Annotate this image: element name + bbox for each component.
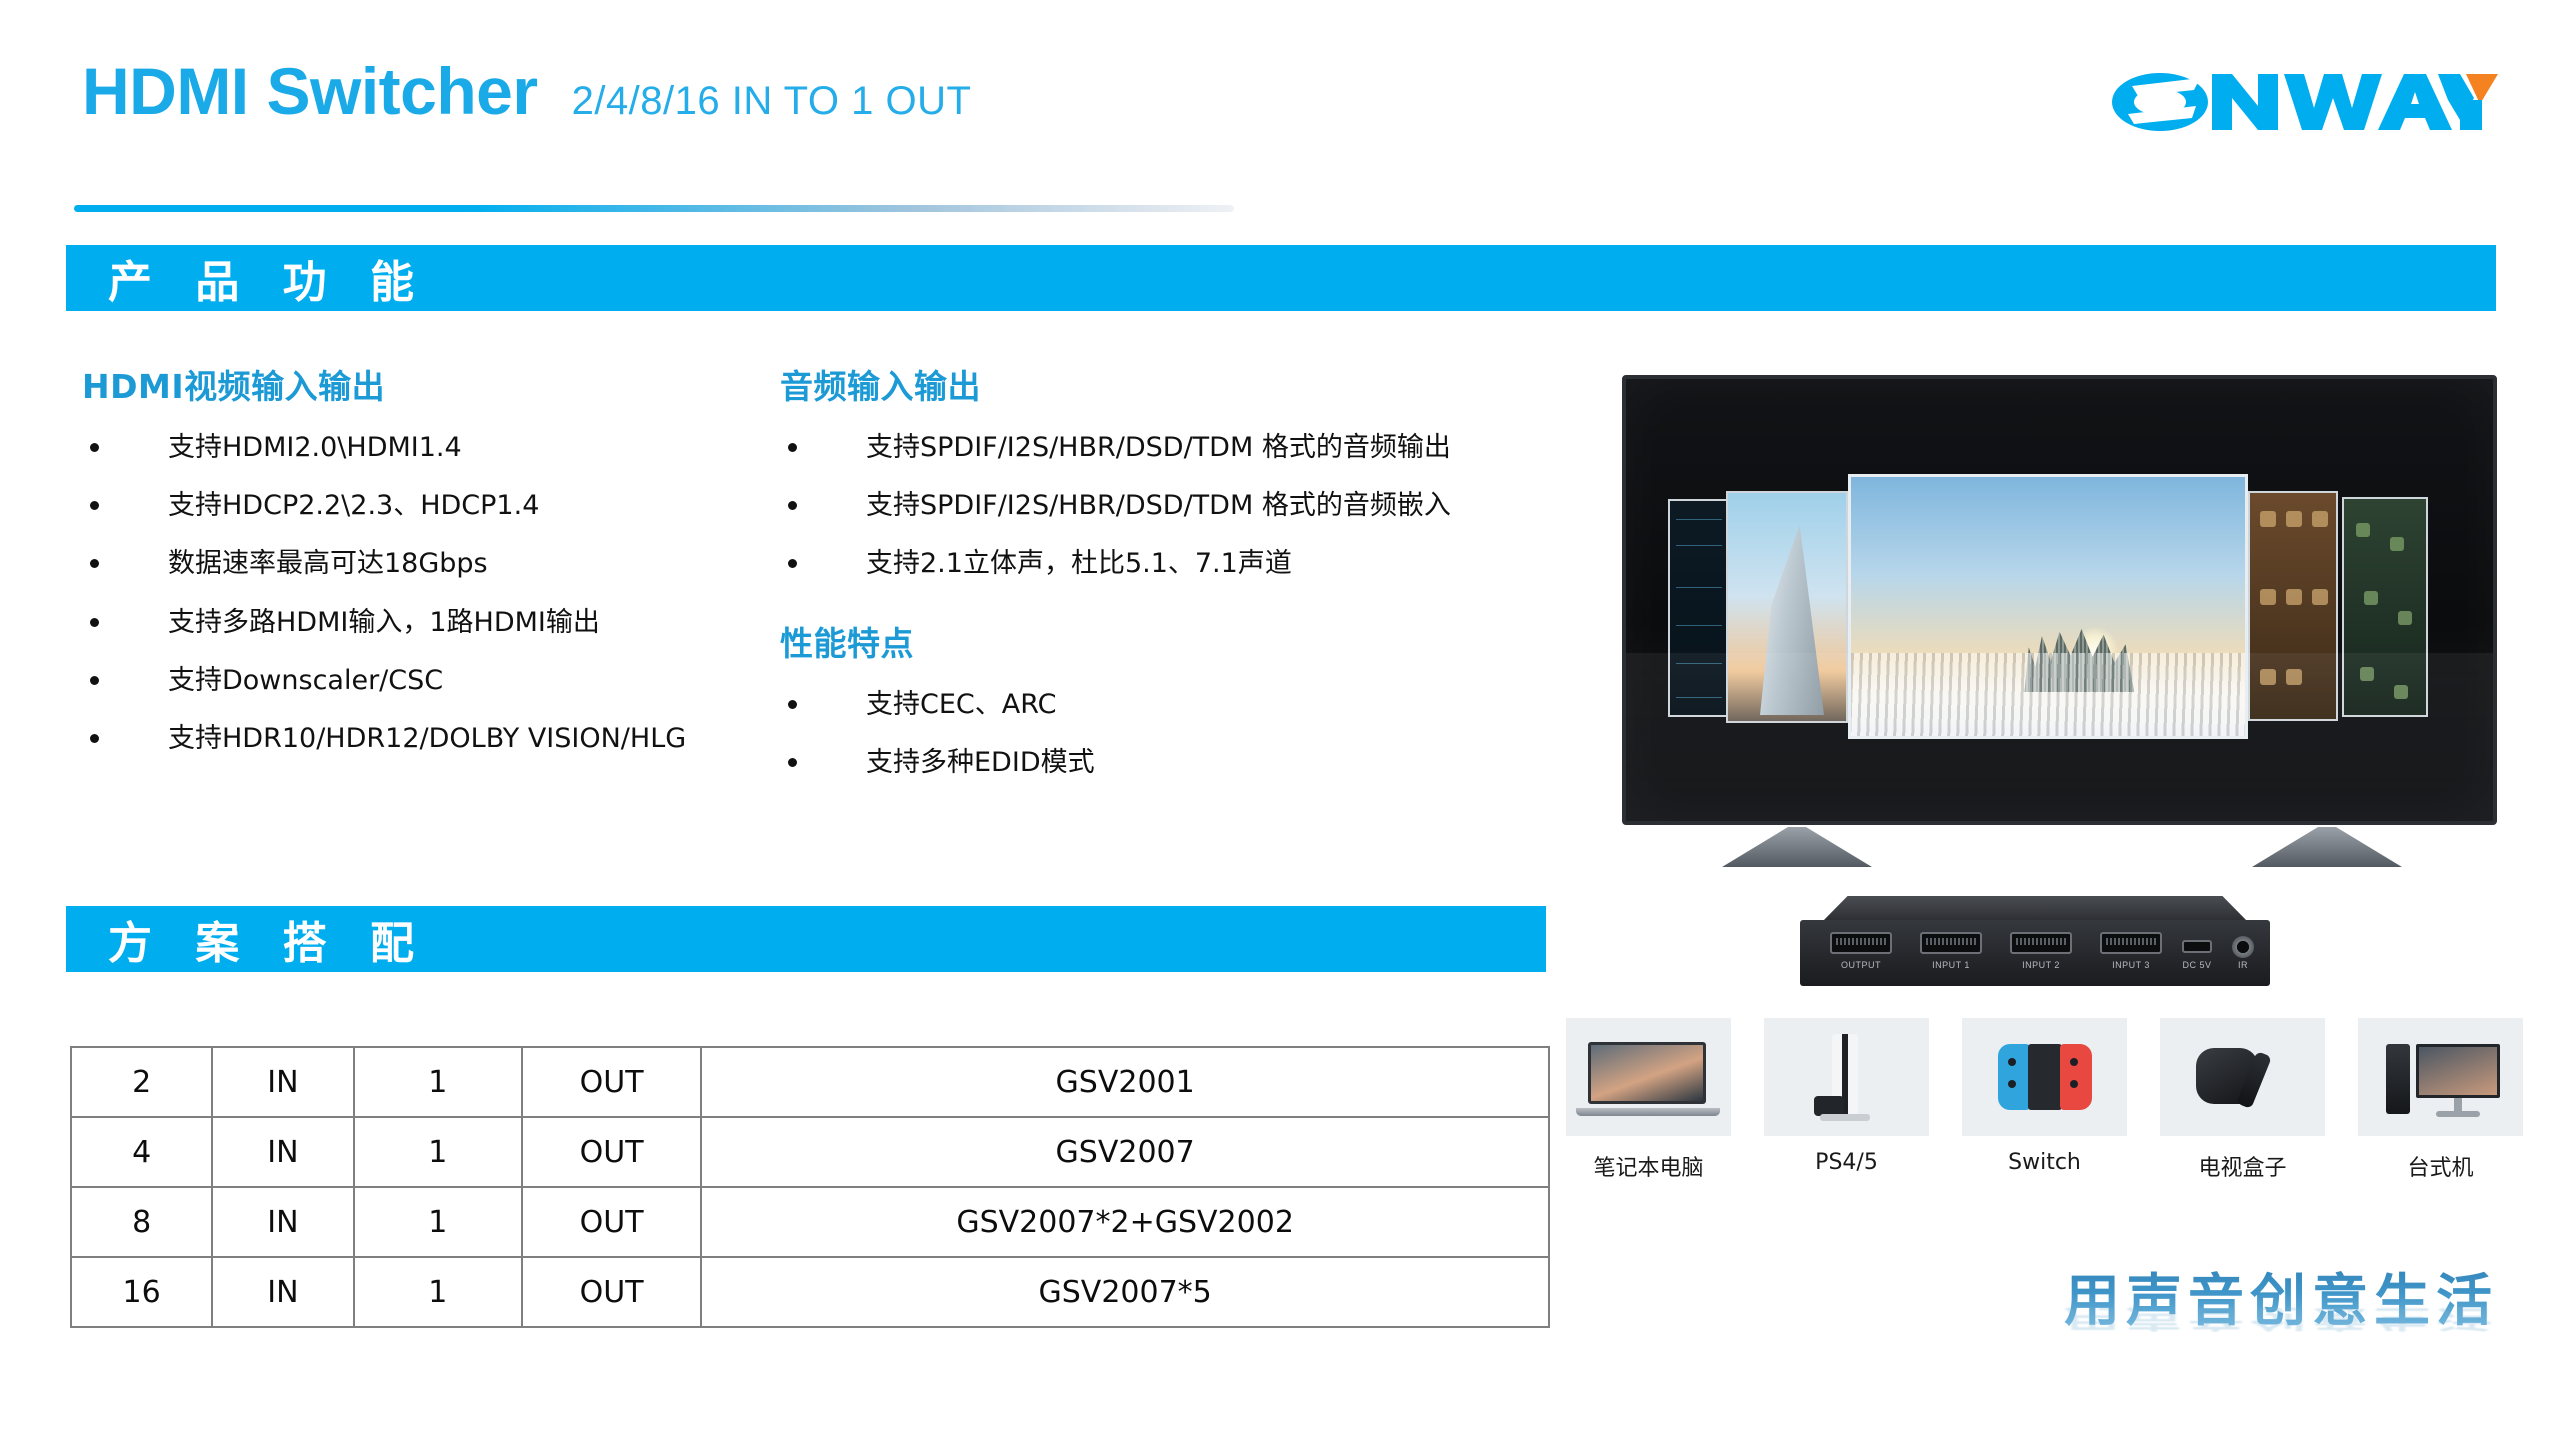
- table-row: 16 IN 1 OUT GSV2007*5: [71, 1257, 1549, 1327]
- list-item: 支持HDR10/HDR12/DOLBY VISION/HLG: [82, 721, 762, 757]
- table-row: 8 IN 1 OUT GSV2007*2+GSV2002: [71, 1187, 1549, 1257]
- cell-model: GSV2001: [701, 1047, 1549, 1117]
- laptop-icon: [1566, 1018, 1731, 1136]
- list-item-text: 支持HDCP2.2\2.3、HDCP1.4: [168, 488, 762, 524]
- tv-box-icon: [2160, 1018, 2325, 1136]
- slide-root: HDMI Switcher 2/4/8/16 IN TO 1 OUT: [0, 0, 2560, 1440]
- page-subtitle: 2/4/8/16 IN TO 1 OUT: [572, 81, 972, 121]
- cell-out-label: OUT: [522, 1117, 701, 1187]
- port-label-input-1: INPUT 1: [1911, 960, 1991, 970]
- cell-outputs: 1: [354, 1257, 522, 1327]
- compatible-devices-row: 笔记本电脑 PS4/5 Switch 电视盒子: [1566, 1018, 2526, 1198]
- bullet-dot-icon: [90, 676, 99, 685]
- port-label-ir: IR: [2203, 960, 2283, 970]
- tv-product-image: [1612, 375, 2512, 875]
- brand-slogan-block: 用声音创意生活 用声音创意生活: [2064, 1256, 2498, 1420]
- switcher-front-panel: OUTPUT INPUT 1 INPUT 2 INPUT 3 DC 5V IR: [1800, 920, 2270, 986]
- header-divider: [74, 205, 1234, 212]
- cell-model: GSV2007: [701, 1117, 1549, 1187]
- title-row: HDMI Switcher 2/4/8/16 IN TO 1 OUT: [82, 58, 971, 124]
- switcher-top-surface: [1822, 896, 2248, 922]
- ir-jack-icon: [2232, 936, 2254, 958]
- device-item-switch: Switch: [1962, 1018, 2127, 1175]
- hdmi-switcher-device-image: OUTPUT INPUT 1 INPUT 2 INPUT 3 DC 5V IR: [1800, 896, 2270, 996]
- feature-list-performance: 支持CEC、ARC 支持多种EDID模式: [780, 687, 1570, 781]
- device-label: Switch: [1962, 1150, 2127, 1175]
- device-label: 电视盒子: [2160, 1150, 2325, 1182]
- cell-inputs: 4: [71, 1117, 212, 1187]
- solution-spec-table: 2 IN 1 OUT GSV2001 4 IN 1 OUT GSV2007 8 …: [70, 1046, 1550, 1328]
- cell-outputs: 1: [354, 1187, 522, 1257]
- cell-inputs: 16: [71, 1257, 212, 1327]
- device-item-laptop: 笔记本电脑: [1566, 1018, 1731, 1182]
- list-item-text: 支持CEC、ARC: [866, 687, 1570, 723]
- cell-model: GSV2007*5: [701, 1257, 1549, 1327]
- bullet-dot-icon: [90, 501, 99, 510]
- list-item-text: 支持SPDIF/I2S/HBR/DSD/TDM 格式的音频嵌入: [866, 488, 1570, 524]
- hdmi-port-output: [1830, 932, 1892, 954]
- bullet-dot-icon: [90, 734, 99, 743]
- bullet-dot-icon: [788, 443, 797, 452]
- cell-out-label: OUT: [522, 1047, 701, 1117]
- desktop-pc-icon: [2358, 1018, 2523, 1136]
- bullet-dot-icon: [788, 559, 797, 568]
- list-item-text: 支持Downscaler/CSC: [168, 663, 762, 699]
- table-row: 4 IN 1 OUT GSV2007: [71, 1117, 1549, 1187]
- list-item-text: 支持多种EDID模式: [866, 745, 1570, 781]
- list-item: 支持2.1立体声，杜比5.1、7.1声道: [780, 546, 1570, 582]
- feature-list-video: 支持HDMI2.0\HDMI1.4 支持HDCP2.2\2.3、HDCP1.4 …: [82, 430, 762, 757]
- list-item-text: 支持HDR10/HDR12/DOLBY VISION/HLG: [168, 721, 762, 757]
- page-header: HDMI Switcher 2/4/8/16 IN TO 1 OUT: [0, 0, 2560, 210]
- port-label-input-2: INPUT 2: [2001, 960, 2081, 970]
- cell-in-label: IN: [212, 1187, 353, 1257]
- list-item: 支持HDMI2.0\HDMI1.4: [82, 430, 762, 466]
- bullet-dot-icon: [90, 559, 99, 568]
- cell-in-label: IN: [212, 1257, 353, 1327]
- list-item-text: 支持SPDIF/I2S/HBR/DSD/TDM 格式的音频输出: [866, 430, 1570, 466]
- list-item: 支持多路HDMI输入，1路HDMI输出: [82, 605, 762, 641]
- list-item-text: 支持多路HDMI输入，1路HDMI输出: [168, 605, 762, 641]
- list-item: 支持多种EDID模式: [780, 745, 1570, 781]
- tv-screen: [1622, 375, 2497, 825]
- feature-heading-performance: 性能特点: [780, 617, 1570, 665]
- feature-column-video: HDMI视频输入输出 支持HDMI2.0\HDMI1.4 支持HDCP2.2\2…: [82, 360, 762, 779]
- bullet-dot-icon: [788, 501, 797, 510]
- table-row: 2 IN 1 OUT GSV2001: [71, 1047, 1549, 1117]
- cell-in-label: IN: [212, 1047, 353, 1117]
- bullet-dot-icon: [788, 758, 797, 767]
- device-item-tv-box: 电视盒子: [2160, 1018, 2325, 1182]
- list-item: 数据速率最高可达18Gbps: [82, 546, 762, 582]
- page-title: HDMI Switcher: [82, 58, 538, 124]
- tv-stand: [1712, 825, 2412, 867]
- device-item-playstation: PS4/5: [1764, 1018, 1929, 1175]
- cell-outputs: 1: [354, 1047, 522, 1117]
- cell-out-label: OUT: [522, 1187, 701, 1257]
- list-item: 支持SPDIF/I2S/HBR/DSD/TDM 格式的音频输出: [780, 430, 1570, 466]
- list-item-text: 支持HDMI2.0\HDMI1.4: [168, 430, 762, 466]
- device-label: 台式机: [2358, 1150, 2523, 1182]
- onway-logo: [2108, 56, 2498, 148]
- feature-column-audio: 音频输入输出 支持SPDIF/I2S/HBR/DSD/TDM 格式的音频输出 支…: [780, 360, 1570, 803]
- playstation-icon: [1764, 1018, 1929, 1136]
- cell-model: GSV2007*2+GSV2002: [701, 1187, 1549, 1257]
- bullet-dot-icon: [90, 443, 99, 452]
- section-title-solution-matching: 方 案 搭 配: [66, 907, 428, 971]
- feature-heading-video: HDMI视频输入输出: [82, 360, 762, 408]
- hdmi-port-input-1: [1920, 932, 1982, 954]
- feature-heading-audio: 音频输入输出: [780, 360, 1570, 408]
- hdmi-port-input-3: [2100, 932, 2162, 954]
- bullet-dot-icon: [90, 618, 99, 627]
- nintendo-switch-icon: [1962, 1018, 2127, 1136]
- cell-inputs: 8: [71, 1187, 212, 1257]
- features-area: HDMI视频输入输出 支持HDMI2.0\HDMI1.4 支持HDCP2.2\2…: [0, 360, 1560, 880]
- tv-screen-reflection: [1626, 653, 2493, 821]
- cell-out-label: OUT: [522, 1257, 701, 1327]
- list-item: 支持CEC、ARC: [780, 687, 1570, 723]
- brand-slogan-reflection: 用声音创意生活: [2064, 1303, 2498, 1339]
- section-bar-solution-matching: 方 案 搭 配: [66, 906, 1546, 972]
- port-label-output: OUTPUT: [1821, 960, 1901, 970]
- list-item: 支持HDCP2.2\2.3、HDCP1.4: [82, 488, 762, 524]
- feature-list-audio: 支持SPDIF/I2S/HBR/DSD/TDM 格式的音频输出 支持SPDIF/…: [780, 430, 1570, 583]
- list-item: 支持SPDIF/I2S/HBR/DSD/TDM 格式的音频嵌入: [780, 488, 1570, 524]
- power-port-icon: [2182, 940, 2212, 953]
- device-label: 笔记本电脑: [1566, 1150, 1731, 1182]
- list-item-text: 支持2.1立体声，杜比5.1、7.1声道: [866, 546, 1570, 582]
- section-bar-product-features: 产 品 功 能: [66, 245, 2496, 311]
- device-label: PS4/5: [1764, 1150, 1929, 1175]
- cell-in-label: IN: [212, 1117, 353, 1187]
- device-item-desktop: 台式机: [2358, 1018, 2523, 1182]
- list-item-text: 数据速率最高可达18Gbps: [168, 546, 762, 582]
- list-item: 支持Downscaler/CSC: [82, 663, 762, 699]
- section-title-product-features: 产 品 功 能: [66, 246, 428, 310]
- cell-outputs: 1: [354, 1117, 522, 1187]
- hdmi-port-input-2: [2010, 932, 2072, 954]
- cell-inputs: 2: [71, 1047, 212, 1117]
- bullet-dot-icon: [788, 700, 797, 709]
